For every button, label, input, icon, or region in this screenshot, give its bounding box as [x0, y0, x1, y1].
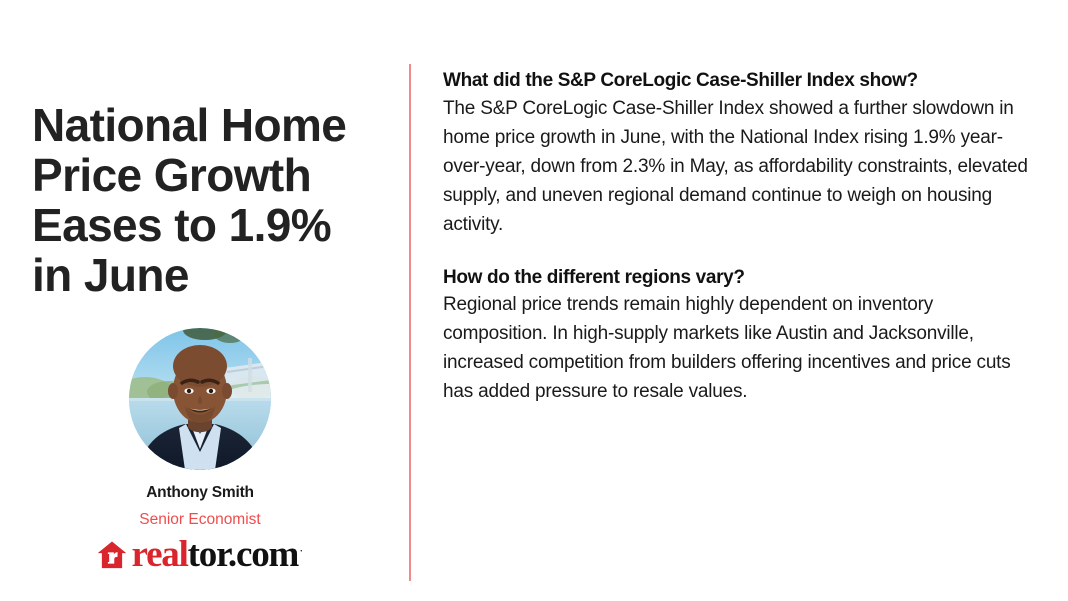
page-title: National Home Price Growth Eases to 1.9%… — [32, 100, 362, 300]
avatar — [129, 328, 271, 470]
slide-root: National Home Price Growth Eases to 1.9%… — [0, 0, 1068, 601]
qa-question: How do the different regions vary? — [443, 265, 1035, 291]
qa-answer: Regional price trends remain highly depe… — [443, 290, 1035, 406]
column-divider — [409, 64, 411, 581]
author-name: Anthony Smith — [146, 484, 254, 502]
qa-item: How do the different regions vary? Regio… — [443, 265, 1035, 407]
author-block: Anthony Smith Senior Economist realtor.c… — [0, 328, 400, 570]
logo-word-black: tor.com — [188, 534, 298, 575]
logo-wordmark: realtor.com — [132, 540, 299, 570]
logo-word-red: real — [132, 534, 188, 575]
qa-column: What did the S&P CoreLogic Case-Shiller … — [443, 68, 1035, 406]
qa-answer: The S&P CoreLogic Case-Shiller Index sho… — [443, 94, 1035, 239]
qa-question: What did the S&P CoreLogic Case-Shiller … — [443, 68, 1035, 94]
registration-mark-icon: · — [299, 544, 303, 557]
realtor-logo[interactable]: realtor.com · — [97, 540, 304, 570]
house-r-icon — [97, 540, 127, 570]
left-column: National Home Price Growth Eases to 1.9%… — [0, 0, 400, 601]
qa-item: What did the S&P CoreLogic Case-Shiller … — [443, 68, 1035, 239]
author-title: Senior Economist — [139, 511, 260, 529]
